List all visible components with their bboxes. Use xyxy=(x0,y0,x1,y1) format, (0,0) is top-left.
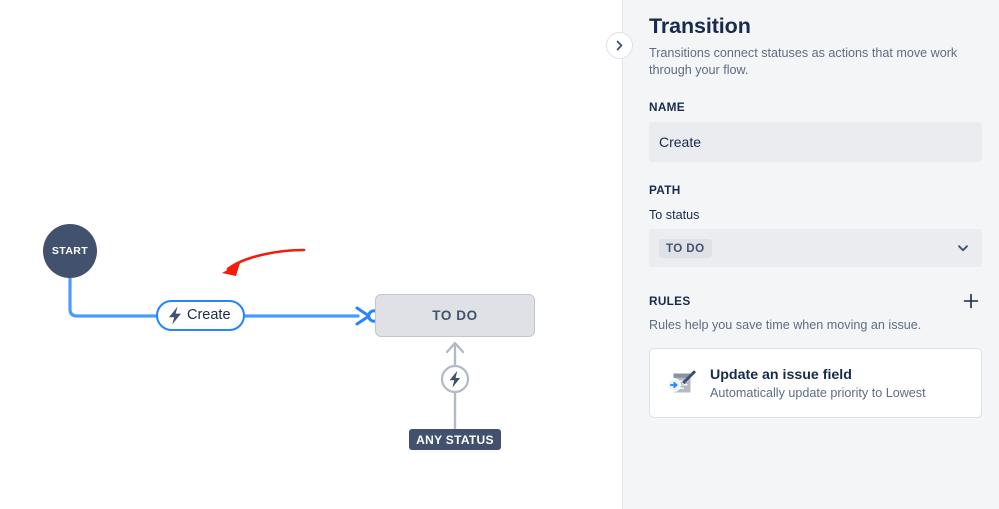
rule-card-text: Update an issue field Automatically upda… xyxy=(710,367,926,400)
start-node[interactable]: START xyxy=(43,224,97,278)
update-issue-field-icon xyxy=(664,366,698,400)
panel-title: Transition xyxy=(649,14,982,39)
to-status-chip: TO DO xyxy=(659,239,712,258)
transition-name-field[interactable]: Create xyxy=(649,122,982,162)
rules-header: RULES xyxy=(649,290,982,312)
transition-node-create[interactable]: Create xyxy=(156,300,245,331)
workflow-canvas[interactable]: START Create TO DO ANY STATUS xyxy=(0,0,622,509)
plus-icon xyxy=(962,292,980,310)
collapse-panel-button[interactable] xyxy=(606,32,633,59)
any-status-label: ANY STATUS xyxy=(416,433,494,447)
to-status-label: To status xyxy=(649,208,982,222)
start-node-label: START xyxy=(52,245,88,257)
rule-card-update-an-issue-field[interactable]: Update an issue field Automatically upda… xyxy=(649,348,982,418)
lightning-bolt-icon xyxy=(168,306,183,325)
workflow-transition-editor: START Create TO DO ANY STATUS Tran xyxy=(0,0,999,509)
rule-card-subtitle: Automatically update priority to Lowest xyxy=(710,386,926,400)
transition-details-panel: Transition Transitions connect statuses … xyxy=(622,0,999,509)
to-status-select[interactable]: TO DO xyxy=(649,229,982,267)
add-rule-button[interactable] xyxy=(960,290,982,312)
transition-node-label: Create xyxy=(187,308,231,323)
status-node-to-do[interactable]: TO DO xyxy=(375,294,535,337)
rule-card-title: Update an issue field xyxy=(710,367,926,383)
rules-section-label: RULES xyxy=(649,294,690,308)
panel-description: Transitions connect statuses as actions … xyxy=(649,45,969,79)
transition-name-value: Create xyxy=(659,134,701,150)
path-section-label: PATH xyxy=(649,183,982,197)
any-status-node[interactable]: ANY STATUS xyxy=(409,429,501,450)
rules-description: Rules help you save time when moving an … xyxy=(649,318,982,332)
chevron-down-icon[interactable] xyxy=(956,241,970,255)
name-section-label: NAME xyxy=(649,100,982,114)
chevron-right-icon xyxy=(614,40,625,51)
status-node-label: TO DO xyxy=(432,308,478,323)
